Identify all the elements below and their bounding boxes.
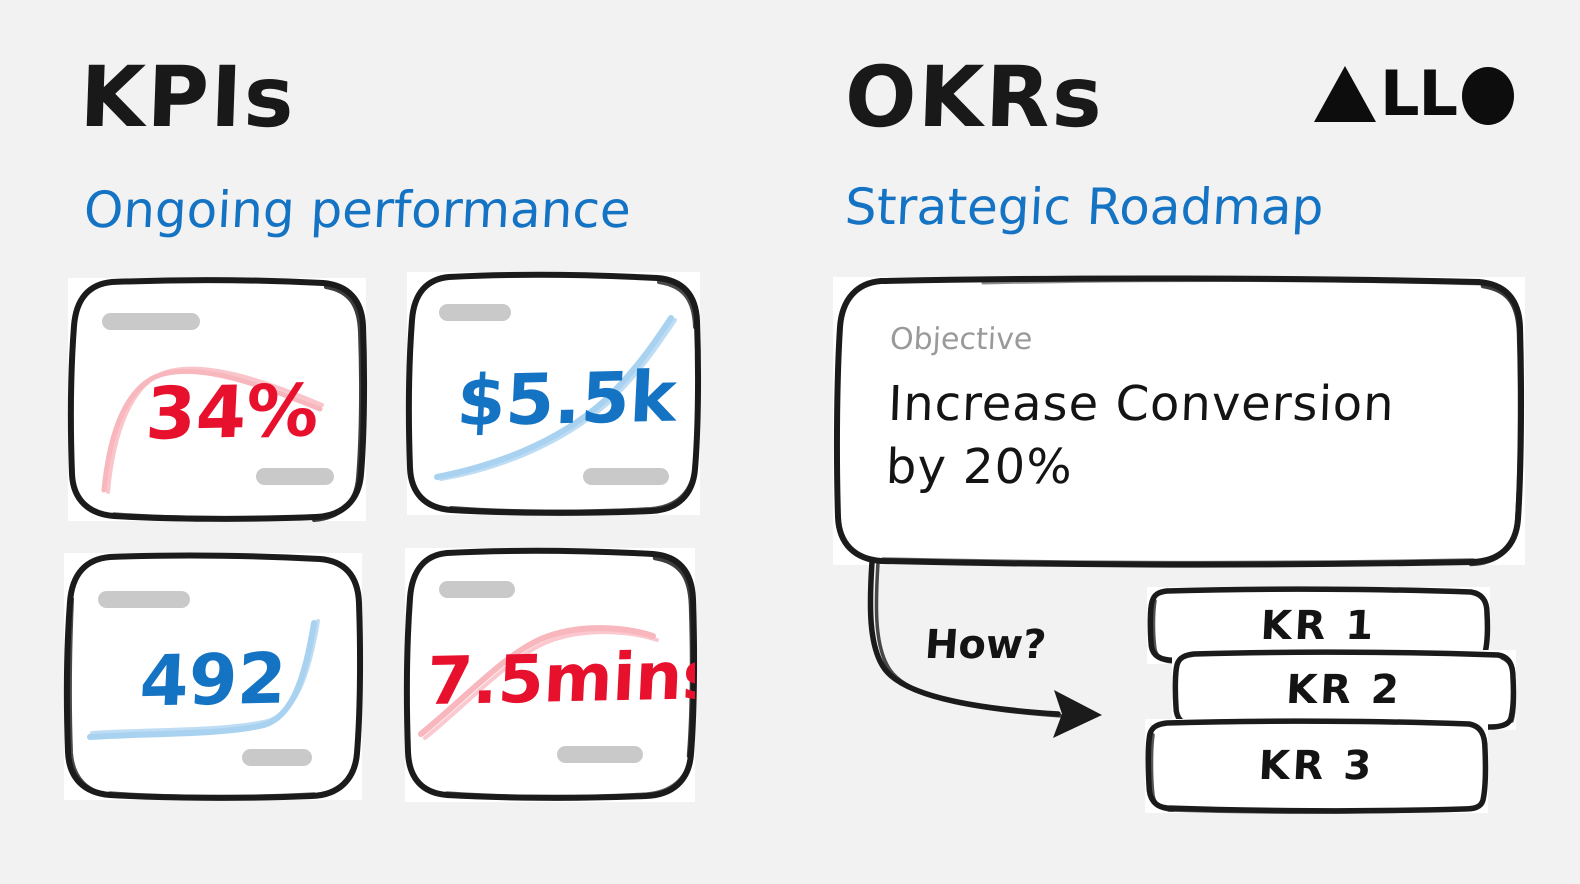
kpi-card-7-5-mins[interactable]: 7.5mins	[405, 548, 695, 802]
card-content: 492	[64, 553, 362, 800]
triangle-a-icon	[1312, 62, 1378, 126]
card-content: 7.5mins	[405, 548, 695, 802]
objective-card[interactable]: Objective Increase Conversion by 20%	[833, 277, 1525, 565]
kpi-value: 492	[138, 643, 288, 716]
objective-line-1: Increase Conversion	[887, 373, 1396, 436]
kpi-card-34-percent[interactable]: 34%	[68, 278, 366, 521]
card-content: KR 2	[1172, 650, 1516, 730]
skeleton-bar-top	[439, 304, 511, 321]
card-content: $5.5k	[407, 272, 700, 515]
card-content: 34%	[68, 278, 366, 521]
skeleton-bar-bottom	[256, 468, 334, 485]
key-result-card-3[interactable]: KR 3	[1145, 719, 1488, 813]
key-result-label: KR 1	[1147, 606, 1490, 646]
card-content: Objective Increase Conversion by 20%	[833, 277, 1525, 565]
skeleton-bar-bottom	[242, 749, 312, 766]
kpis-title: KPIs	[79, 55, 298, 139]
kpis-subtitle: Ongoing performance	[83, 185, 632, 235]
key-result-card-2[interactable]: KR 2	[1172, 650, 1516, 730]
skeleton-bar-top	[439, 581, 515, 598]
key-result-label: KR 2	[1172, 670, 1516, 710]
objective-text: Increase Conversion by 20%	[885, 373, 1396, 500]
kpi-value: 34%	[144, 374, 320, 450]
key-result-label: KR 3	[1145, 746, 1488, 786]
allo-logo[interactable]: LL	[1312, 62, 1517, 126]
how-label: How?	[924, 625, 1048, 665]
okrs-title: OKRs	[844, 55, 1106, 139]
skeleton-bar-top	[102, 313, 200, 330]
okrs-subtitle: Strategic Roadmap	[844, 182, 1325, 232]
objective-label: Objective	[889, 325, 1033, 355]
card-content: KR 3	[1145, 719, 1488, 813]
objective-line-2: by 20%	[885, 436, 1394, 499]
circle-o-icon	[1459, 62, 1517, 126]
skeleton-bar-bottom	[583, 468, 669, 485]
whiteboard-canvas: KPIs Ongoing performance 34%	[0, 0, 1580, 884]
kpi-value: 7.5mins	[425, 643, 695, 715]
skeleton-bar-top	[98, 591, 190, 608]
kpi-card-492[interactable]: 492	[64, 553, 362, 800]
skeleton-bar-bottom	[557, 746, 643, 763]
logo-text-ll: LL	[1380, 63, 1457, 125]
kpi-value: $5.5k	[455, 362, 678, 437]
kpi-card-5-5k[interactable]: $5.5k	[407, 272, 700, 515]
